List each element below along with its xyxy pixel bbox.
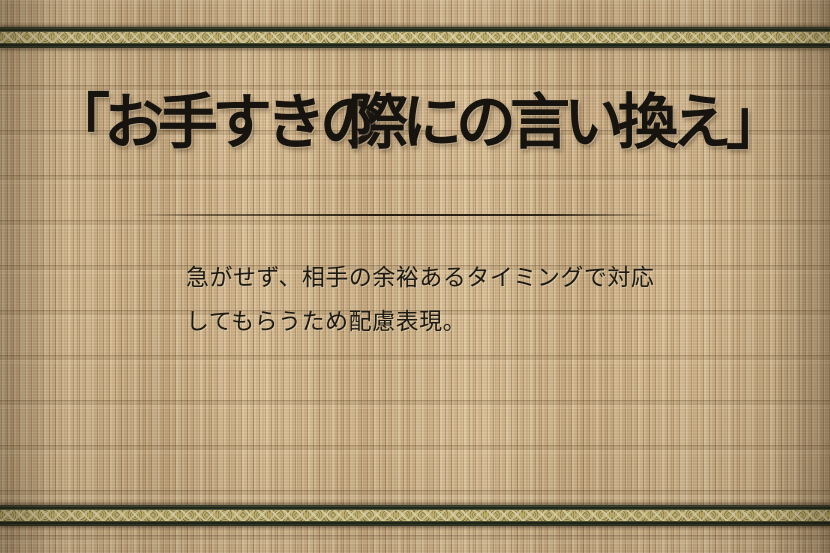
- slide-content: 「お手すきの際にの言い換え」 急がせず、相手の余裕あるタイミングで対応 してもら…: [0, 0, 830, 553]
- slide-subtitle: 急がせず、相手の余裕あるタイミングで対応 してもらうため配慮表現。: [186, 256, 706, 344]
- title-close-bracket: 」: [726, 88, 780, 158]
- title-tail-text: 際にの言い換え: [348, 88, 726, 158]
- subtitle-line-2: してもらうため配慮表現。: [186, 300, 706, 344]
- title-divider-rule: [130, 214, 666, 216]
- slide-title: 「お手すきの際にの言い換え」: [0, 92, 830, 155]
- tatami-slide: 「お手すきの際にの言い換え」 急がせず、相手の余裕あるタイミングで対応 してもら…: [0, 0, 830, 553]
- title-lead-text: お手すき: [104, 88, 320, 158]
- subtitle-line-1: 急がせず、相手の余裕あるタイミングで対応: [186, 256, 706, 300]
- title-open-bracket: 「: [50, 88, 104, 158]
